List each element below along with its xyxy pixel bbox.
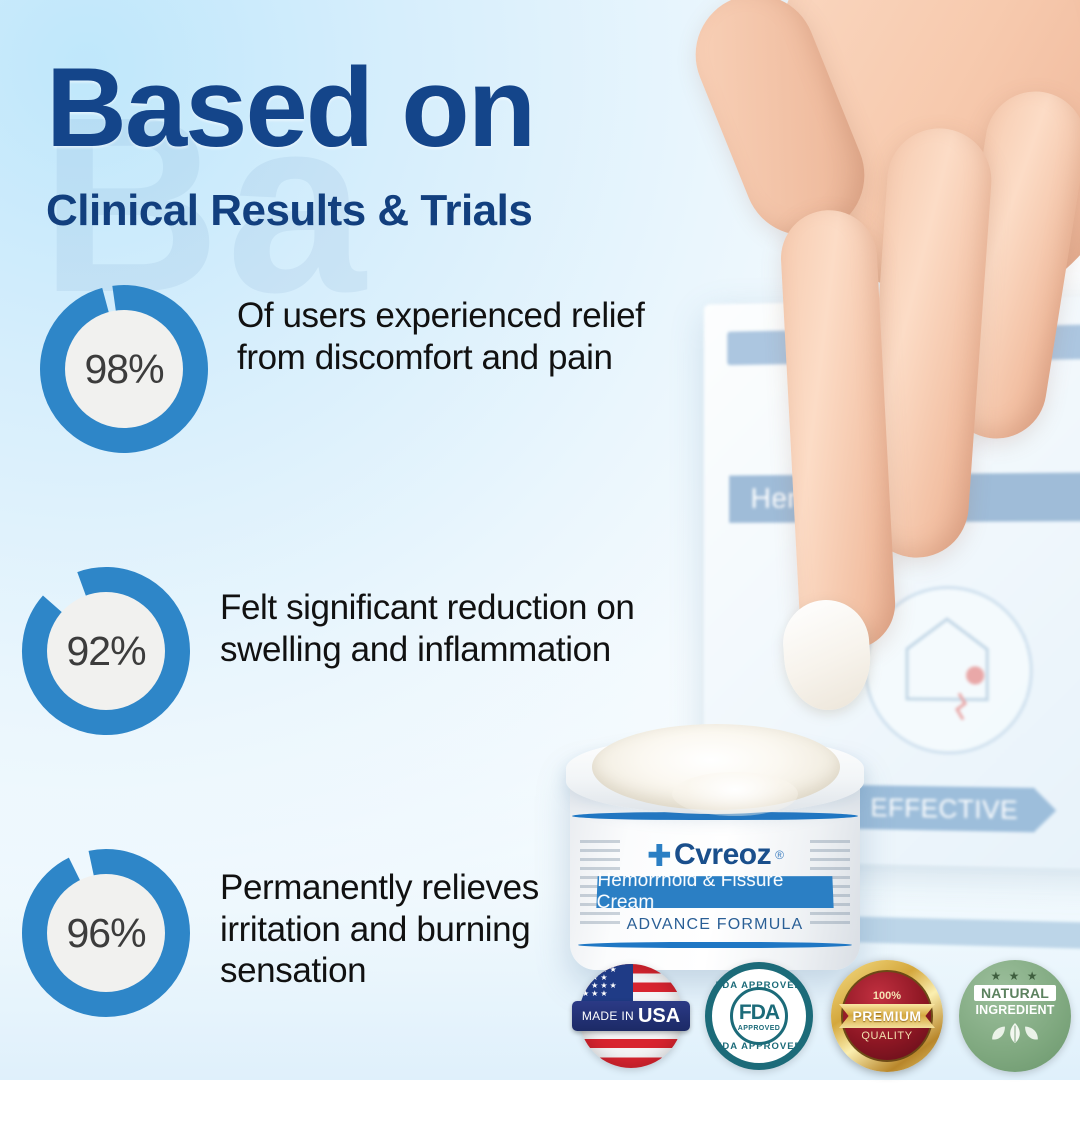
trust-badge-row: ★★★★★★★★★★★★★★ MADE IN USA FDA APPROVED … (575, 955, 1075, 1077)
jar-brand-row: Cvreoz ® (646, 838, 784, 872)
made-in-usa-ribbon: MADE IN USA (572, 1001, 690, 1031)
progress-ring-96: 96% (20, 847, 192, 1019)
natural-line1: NATURAL (974, 985, 1056, 1001)
heading-block: Based on Clinical Results & Trials (46, 52, 746, 236)
stat-item: 92% Felt significant reduction on swelli… (0, 565, 660, 735)
premium-main-label: PREMIUM (853, 1008, 922, 1024)
statistics-list: 98% Of users experienced relief from dis… (0, 283, 660, 1129)
premium-sub-label: QUALITY (861, 1030, 912, 1042)
progress-ring-92-value: 92% (66, 628, 145, 675)
progress-ring-92: 92% (20, 565, 192, 737)
made-in-usa-badge: ★★★★★★★★★★★★★★ MADE IN USA (575, 960, 687, 1072)
progress-ring-92-center: 92% (47, 592, 165, 710)
premium-quality-badge: 100% PREMIUM QUALITY (831, 960, 943, 1072)
fda-approved-badge: FDA APPROVED FDA APPROVED FDA APPROVED (703, 960, 815, 1072)
fda-core-sublabel: APPROVED (738, 1025, 781, 1032)
progress-ring-98-center: 98% (65, 310, 183, 428)
premium-percent-label: 100% (873, 990, 901, 1002)
natural-stars-icon: ★ ★ ★ (991, 971, 1040, 982)
natural-line2: INGREDIENT (975, 1003, 1054, 1017)
jar-registered-mark: ® (775, 848, 784, 862)
page-subtitle: Clinical Results & Trials (46, 186, 746, 236)
premium-ribbon: PREMIUM (839, 1004, 935, 1028)
made-in-usa-line1: MADE IN (582, 1009, 634, 1023)
natural-badge-disc: ★ ★ ★ NATURAL INGREDIENT (959, 960, 1071, 1072)
premium-inner-disc: 100% PREMIUM QUALITY (841, 970, 933, 1062)
fda-badge-core: FDA APPROVED (730, 987, 788, 1045)
jar-brand-name: Cvreoz (674, 838, 771, 872)
progress-ring-98-value: 98% (84, 346, 163, 393)
fda-badge-outer-ring: FDA APPROVED FDA APPROVED FDA APPROVED (705, 962, 813, 1070)
progress-ring-96-value: 96% (66, 910, 145, 957)
made-in-usa-line2: USA (638, 1005, 680, 1028)
stat-item: 98% Of users experienced relief from dis… (0, 283, 660, 453)
usa-flag-stars: ★★★★★★★★★★★★★★ (582, 966, 636, 998)
stat-description: Felt significant reduction on swelling a… (220, 587, 660, 670)
page-title: Based on (46, 52, 746, 164)
stat-description: Of users experienced relief from discomf… (237, 295, 667, 378)
progress-ring-96-center: 96% (47, 874, 165, 992)
jar-cream-swirl (672, 772, 798, 816)
leaf-icon (983, 1021, 1047, 1049)
progress-ring-98: 98% (38, 283, 210, 455)
carton-chevron-effective: EFFECTIVE (849, 785, 1035, 832)
leaves-svg-icon (983, 1021, 1047, 1045)
natural-ingredient-badge: ★ ★ ★ NATURAL INGREDIENT (959, 960, 1071, 1072)
stat-item: 96% Permanently relieves irritation and … (0, 847, 660, 1017)
fda-core-label: FDA (739, 1001, 779, 1025)
